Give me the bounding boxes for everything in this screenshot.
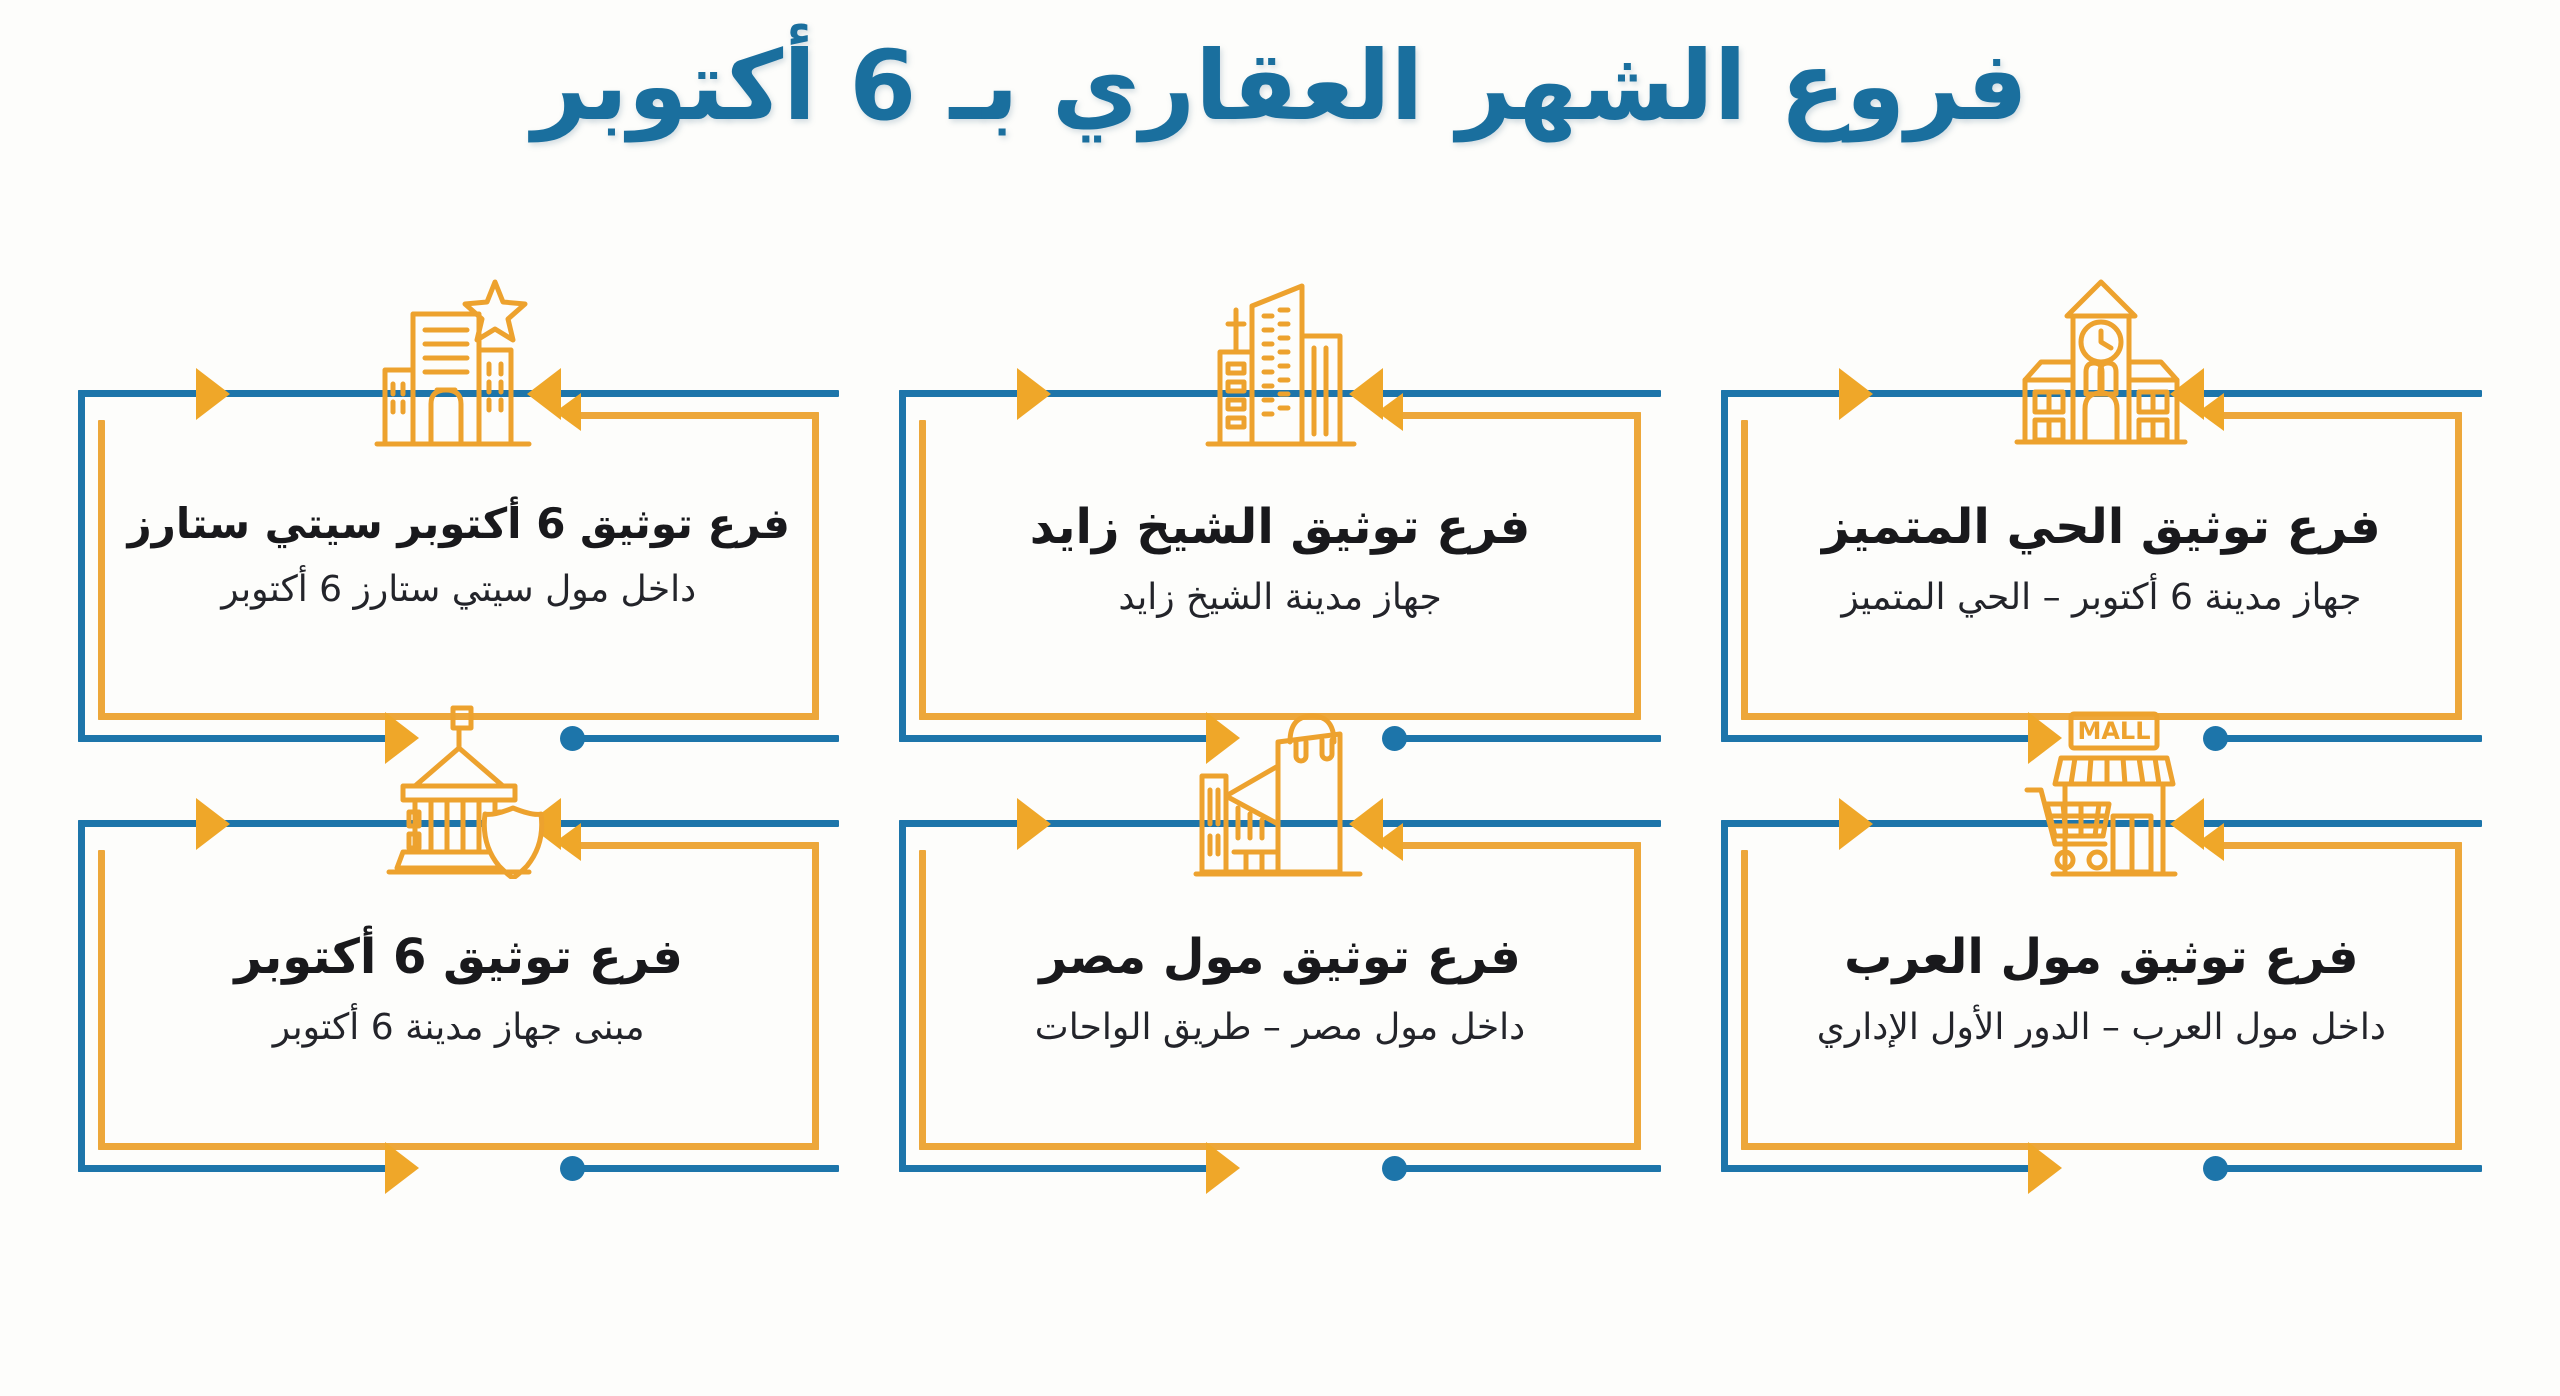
svg-text:MALL: MALL [2077,717,2150,745]
card-inner-frame-right [812,412,819,720]
card-inner-frame-right [2455,842,2462,1150]
card-frame-bottom-right [2222,1165,2482,1172]
card-subtitle: جهاز مدينة 6 أكتوبر – الحي المتميز [1763,575,2440,622]
card-title: فرع توثيق مول العرب [1763,928,2440,987]
infographic-page: فروع الشهر العقاري بـ 6 أكتوبر [0,0,2560,1396]
arrow-right-bottom-icon [1206,1142,1240,1194]
card-frame-bottom [899,1165,1224,1172]
card-text: فرع توثيق مول مصر داخل مول مصر – طريق ال… [941,928,1618,1051]
branch-card[interactable]: فرع توثيق 6 أكتوبر سيتي ستارز داخل مول س… [60,330,857,760]
card-subtitle: داخل مول سيتي ستارز 6 أكتوبر [120,567,797,614]
card-frame-bottom-right [579,1165,839,1172]
endpoint-dot [560,1156,585,1181]
branch-card[interactable]: فرع توثيق 6 أكتوبر مبنى جهاز مدينة 6 أكت… [60,760,857,1190]
page-title: فروع الشهر العقاري بـ 6 أكتوبر [0,26,2560,146]
card-inner-frame-right [1634,412,1641,720]
office-towers-icon [881,274,1678,449]
card-subtitle: مبنى جهاز مدينة 6 أكتوبر [120,1005,797,1052]
card-inner-frame-left [1741,850,1748,1150]
government-shield-icon [60,704,857,879]
card-text: فرع توثيق مول العرب داخل مول العرب – الد… [1763,928,2440,1051]
card-inner-frame-right [1634,842,1641,1150]
branch-card[interactable]: فرع توثيق الحي المتميز جهاز مدينة 6 أكتو… [1703,330,2500,760]
card-inner-frame-left [98,420,105,720]
branch-card[interactable]: فرع توثيق الشيخ زايد جهاز مدينة الشيخ زا… [881,330,1678,760]
card-inner-frame-left [1741,420,1748,720]
card-inner-frame-left [98,850,105,1150]
star-building-icon [60,274,857,449]
card-title: فرع توثيق الشيخ زايد [941,498,1618,557]
card-text: فرع توثيق الشيخ زايد جهاز مدينة الشيخ زا… [941,498,1618,621]
card-text: فرع توثيق 6 أكتوبر سيتي ستارز داخل مول س… [120,498,797,614]
card-subtitle: داخل مول العرب – الدور الأول الإداري [1763,1005,2440,1052]
card-inner-frame-bottom [98,1143,819,1150]
card-title: فرع توثيق 6 أكتوبر [120,928,797,987]
card-text: فرع توثيق 6 أكتوبر مبنى جهاز مدينة 6 أكت… [120,928,797,1051]
card-frame-bottom [78,1165,403,1172]
arrow-right-bottom-icon [385,1142,419,1194]
branch-card[interactable]: MALL فرع توثيق مول العرب داخ [1703,760,2500,1190]
card-inner-frame-right [2455,412,2462,720]
branch-card-grid: فرع توثيق الحي المتميز جهاز مدينة 6 أكتو… [60,330,2500,1190]
branch-card[interactable]: فرع توثيق مول مصر داخل مول مصر – طريق ال… [881,760,1678,1190]
card-subtitle: داخل مول مصر – طريق الواحات [941,1005,1618,1052]
card-title: فرع توثيق الحي المتميز [1763,498,2440,557]
card-inner-frame-bottom [1741,1143,2462,1150]
card-frame-bottom-right [1401,1165,1661,1172]
card-text: فرع توثيق الحي المتميز جهاز مدينة 6 أكتو… [1763,498,2440,621]
card-title: فرع توثيق 6 أكتوبر سيتي ستارز [120,498,797,549]
card-inner-frame-right [812,842,819,1150]
endpoint-dot [1382,1156,1407,1181]
card-inner-frame-left [919,850,926,1150]
mall-storefront-cart-icon: MALL [1703,704,2500,879]
card-inner-frame-bottom [919,1143,1640,1150]
endpoint-dot [2203,1156,2228,1181]
card-subtitle: جهاز مدينة الشيخ زايد [941,575,1618,622]
card-title: فرع توثيق مول مصر [941,928,1618,987]
town-hall-clock-tower-icon [1703,274,2500,449]
arrow-right-bottom-icon [2028,1142,2062,1194]
card-frame-bottom [1721,1165,2046,1172]
shopping-bag-mall-icon [881,704,1678,879]
card-inner-frame-left [919,420,926,720]
